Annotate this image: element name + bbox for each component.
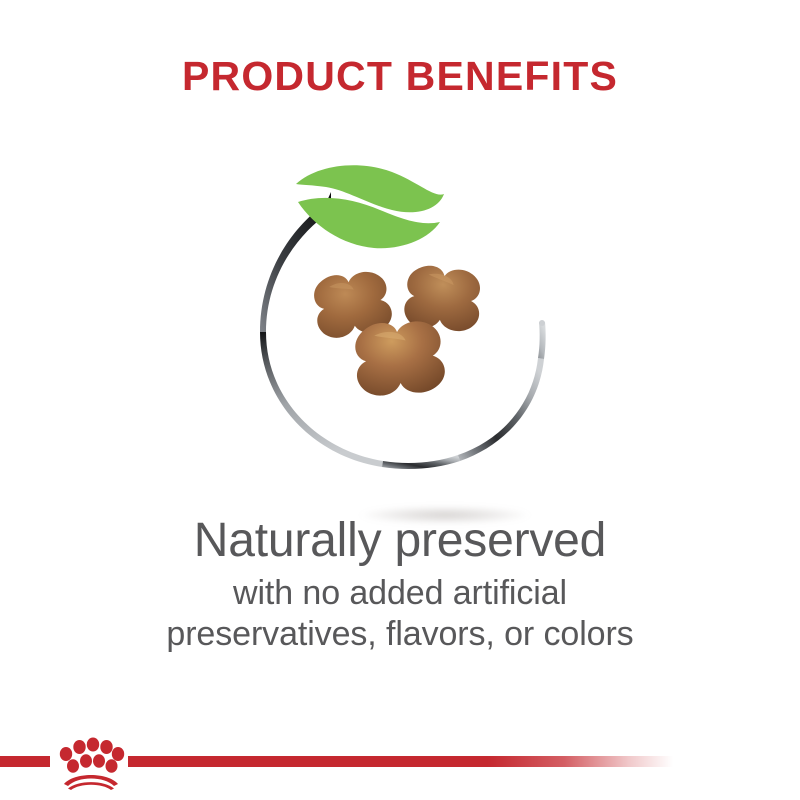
benefit-subline-2: preservatives, flavors, or colors <box>0 614 800 655</box>
royal-canin-crown-icon <box>54 732 128 790</box>
page-title: PRODUCT BENEFITS <box>0 56 800 97</box>
product-benefits-panel: PRODUCT BENEFITS <box>0 0 800 800</box>
kibble-group <box>300 260 510 420</box>
footer <box>0 744 800 800</box>
benefit-subline-1: with no added artificial <box>0 573 800 614</box>
kibble-piece <box>337 314 461 406</box>
benefit-badge <box>230 150 570 490</box>
leaf-icon <box>288 160 448 250</box>
royal-canin-crown-icon-wrapper <box>54 732 128 790</box>
footer-rule-right <box>128 756 673 767</box>
benefit-caption: Naturally preserved with no added artifi… <box>0 516 800 656</box>
benefit-headline: Naturally preserved <box>0 516 800 567</box>
footer-rule-left <box>0 756 50 767</box>
leaf-icon-wrapper <box>288 160 448 250</box>
